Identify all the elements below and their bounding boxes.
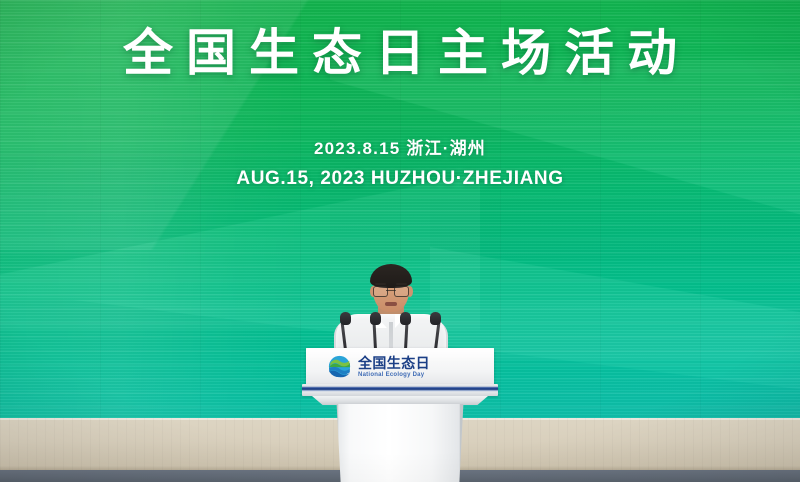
microphone-cluster — [338, 310, 458, 350]
glasses-lens-right — [394, 286, 409, 297]
wall-light-column — [0, 0, 300, 424]
speaker-eyebrow-left — [375, 283, 386, 285]
wall-facet-b — [330, 60, 800, 260]
microphone-head — [430, 312, 441, 325]
microphone-icon — [400, 312, 411, 350]
podium-accent-stripe — [302, 384, 498, 396]
microphone-stem — [341, 323, 347, 350]
microphone-stem — [373, 323, 377, 350]
microphone-stem — [434, 323, 440, 350]
microphone-head — [340, 312, 351, 325]
logo-title-chinese: 全国生态日 — [358, 356, 430, 370]
speaker-mouth — [385, 302, 397, 306]
wall-facet-d — [430, 200, 800, 360]
logo-text-block: 全国生态日 National Ecology Day — [358, 356, 430, 378]
microphone-head — [400, 312, 411, 325]
ecology-day-logo-icon — [328, 355, 351, 378]
podium: 全国生态日 National Ecology Day — [298, 346, 502, 482]
microphone-icon — [370, 312, 381, 350]
glasses-lens-left — [373, 286, 388, 297]
microphone-icon — [340, 312, 351, 350]
speaker-eyebrow-right — [396, 283, 407, 285]
logo-title-english: National Ecology Day — [358, 372, 430, 378]
microphone-head — [370, 312, 381, 325]
podium-shelf — [312, 396, 488, 405]
event-banner-scene: 全国生态日主场活动 2023.8.15 浙江·湖州 AUG.15, 2023 H… — [0, 0, 800, 482]
podium-front-panel: 全国生态日 National Ecology Day — [306, 348, 494, 386]
podium-column — [334, 404, 466, 482]
wall-facet-a — [0, 0, 800, 250]
event-logo: 全国生态日 National Ecology Day — [328, 355, 430, 378]
glasses-icon — [373, 286, 409, 295]
microphone-stem — [404, 323, 408, 350]
microphone-icon — [430, 312, 441, 350]
